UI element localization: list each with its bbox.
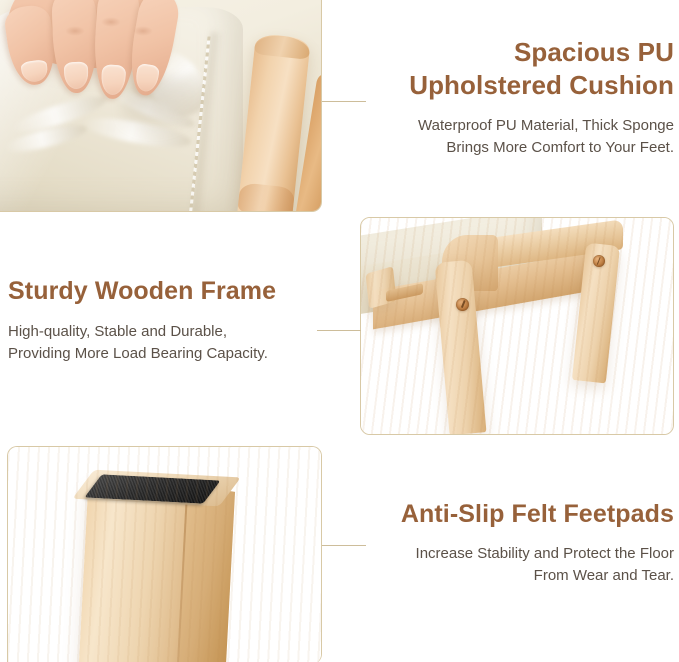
feature-description-cushion: Waterproof PU Material, Thick Sponge Bri… [356,115,674,159]
feature-title-line-1: Spacious PU [514,37,674,67]
cushion-photo-stage [0,0,321,211]
product-feature-infographic: Spacious PU Upholstered Cushion Waterpro… [0,0,679,662]
wooden-leg-grain-band [238,182,296,211]
feature-description-line-1: Waterproof PU Material, Thick Sponge [418,117,674,134]
feature-description-line-1: High-quality, Stable and Durable, [8,323,227,340]
feature-photo-frame [360,217,674,435]
fingernail [100,63,126,95]
fingernail [21,59,49,83]
feetpad-photo-stage [8,447,321,662]
feature-description-line-2: Providing More Load Bearing Capacity. [8,345,268,362]
feature-photo-cushion [0,0,322,212]
finger [51,0,99,94]
feature-description-line-2: Brings More Comfort to Your Feet. [446,139,674,156]
screw-icon [456,298,469,311]
knuckle [65,26,85,36]
fingernail [63,62,89,90]
feature-description-frame: High-quality, Stable and Durable, Provid… [8,321,338,365]
feature-title-cushion: Spacious PU Upholstered Cushion [356,36,674,103]
knuckle [133,26,153,36]
hand-illustration [4,0,204,113]
feature-text-cushion: Spacious PU Upholstered Cushion Waterpro… [356,36,674,159]
frame-photo-stage [361,218,673,434]
feature-description-feetpads: Increase Stability and Protect the Floor… [352,543,674,587]
feature-description-line-2: From Wear and Tear. [534,567,674,584]
feature-photo-feetpads [7,446,322,662]
knuckle [101,17,121,27]
feature-text-feetpads: Anti-Slip Felt Feetpads Increase Stabili… [352,498,674,587]
fingernail [133,63,160,94]
feature-title-frame: Sturdy Wooden Frame [8,275,338,307]
feature-title-line-2: Upholstered Cushion [409,70,674,100]
feature-text-frame: Sturdy Wooden Frame High-quality, Stable… [8,275,338,365]
feature-title-feetpads: Anti-Slip Felt Feetpads [352,498,674,530]
feature-description-line-1: Increase Stability and Protect the Floor [416,545,674,562]
